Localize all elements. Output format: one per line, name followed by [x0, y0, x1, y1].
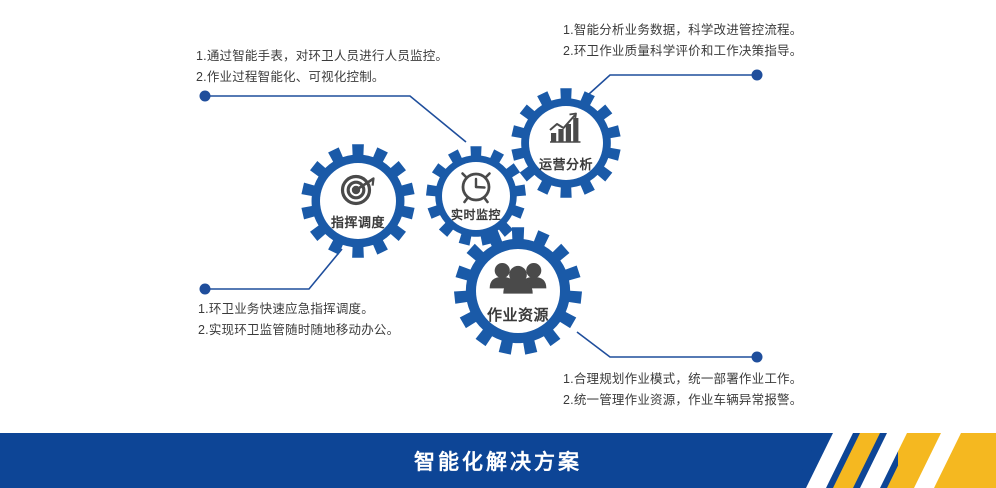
callout-line: 1.智能分析业务数据，科学改进管控流程。	[563, 20, 802, 41]
callout-top-left: 1.通过智能手表，对环卫人员进行人员监控。 2.作业过程智能化、可视化控制。	[196, 46, 448, 87]
callout-line: 2.作业过程智能化、可视化控制。	[196, 67, 448, 88]
connector-dot-top-left	[200, 91, 211, 102]
callout-line: 2.实现环卫监管随时随地移动办公。	[198, 320, 399, 341]
connector-dot-top-right	[752, 70, 763, 81]
callout-line: 2.统一管理作业资源，作业车辆异常报警。	[563, 390, 802, 411]
callout-top-right: 1.智能分析业务数据，科学改进管控流程。 2.环卫作业质量科学评价和工作决策指导…	[563, 20, 802, 61]
callout-line: 1.环卫业务快速应急指挥调度。	[198, 299, 399, 320]
connector-dot-bottom-left	[200, 284, 211, 295]
gear-shape	[505, 82, 627, 204]
callout-bottom-left: 1.环卫业务快速应急指挥调度。 2.实现环卫监管随时随地移动办公。	[198, 299, 399, 340]
gear-hub	[320, 163, 396, 239]
callout-line: 2.环卫作业质量科学评价和工作决策指导。	[563, 41, 802, 62]
connector-top-left	[205, 96, 466, 142]
gear-hub	[529, 106, 603, 180]
connector-bottom-right	[577, 332, 757, 357]
callout-line: 1.通过智能手表，对环卫人员进行人员监控。	[196, 46, 448, 67]
connector-dot-bottom-right	[752, 352, 763, 363]
infographic-canvas: 1.通过智能手表，对环卫人员进行人员监控。 2.作业过程智能化、可视化控制。 1…	[0, 0, 996, 488]
gear-operations-analysis[interactable]: 运营分析	[505, 82, 627, 204]
banner-stripe-decoration	[780, 433, 996, 488]
callout-line: 1.合理规划作业模式，统一部署作业工作。	[563, 369, 802, 390]
gear-hub	[442, 162, 510, 230]
gear-command-dispatch[interactable]: 指挥调度	[295, 138, 421, 264]
gear-shape	[295, 138, 421, 264]
callout-bottom-right: 1.合理规划作业模式，统一部署作业工作。 2.统一管理作业资源，作业车辆异常报警…	[563, 369, 802, 410]
